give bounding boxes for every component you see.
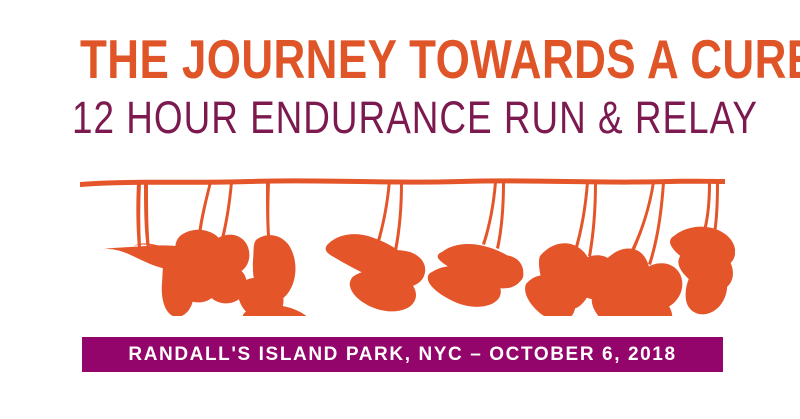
page-subtitle: 12 HOUR ENDURANCE RUN & RELAY — [72, 94, 728, 142]
shoe-lace — [496, 182, 505, 249]
event-details-text: RANDALL'S ISLAND PARK, NYC – OCTOBER 6, … — [128, 345, 676, 364]
shoe-lace — [588, 182, 597, 257]
shoe-lace — [198, 182, 212, 235]
shoe-lace — [221, 182, 233, 239]
shoe-lace — [394, 182, 403, 251]
shoe-lace — [136, 182, 141, 248]
shoe-lace — [144, 182, 150, 250]
headline-block: THE JOURNEY TOWARDS A CURE 12 HOUR ENDUR… — [0, 30, 800, 142]
page-title: THE JOURNEY TOWARDS A CURE — [80, 30, 720, 88]
shoe-lace — [482, 182, 497, 245]
hanging-shoes-illustration — [70, 164, 735, 316]
event-details-banner: RANDALL'S ISLAND PARK, NYC – OCTOBER 6, … — [82, 337, 723, 372]
event-poster: THE JOURNEY TOWARDS A CURE 12 HOUR ENDUR… — [0, 0, 800, 419]
shoe-lace — [376, 180, 391, 245]
shoes-svg — [70, 164, 735, 316]
shoes-group — [80, 178, 735, 316]
shoe-lace — [574, 182, 589, 251]
shoe-lace — [630, 182, 655, 254]
